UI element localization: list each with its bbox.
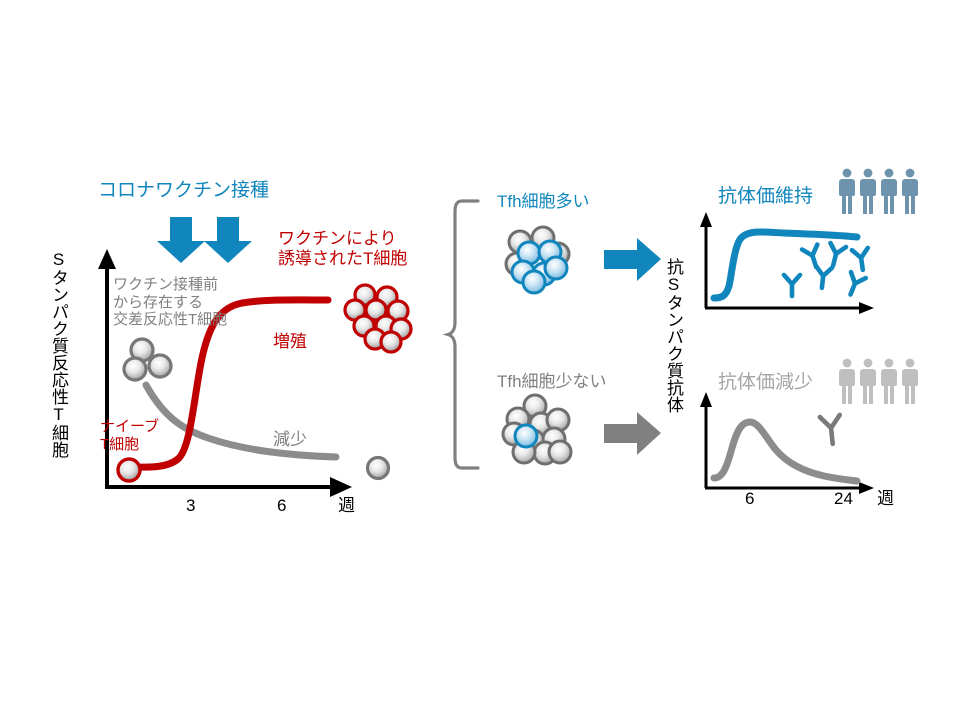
person-icon: [881, 169, 897, 214]
cell-glyph-gray: [503, 395, 571, 464]
naive-tcell-glyph: [112, 453, 146, 487]
naive-tcell-label-line2: T細胞: [100, 436, 159, 454]
person-icon: [839, 169, 855, 214]
declined-chart-xtick-24: 24: [834, 489, 853, 509]
induced-tcell-cluster: [343, 284, 415, 356]
antibody-icon: [820, 415, 843, 445]
maintained-chart-y-axis: [700, 212, 712, 308]
person-icon: [902, 169, 918, 214]
declined-antibody-group: [813, 412, 849, 454]
induced-tcell-label: ワクチンにより 誘導されたT細胞: [278, 229, 407, 269]
preexisting-tcell-label-line2: から存在する: [113, 294, 227, 312]
declined-chart-xtick-6: 6: [745, 489, 754, 509]
naive-tcell-label: ナイーブ T細胞: [100, 418, 159, 453]
cell-glyph-blue: [512, 241, 567, 293]
tfh-low-cell-cluster: [500, 394, 576, 466]
antibody-icon: [843, 272, 866, 297]
antibody-icon: [814, 266, 832, 289]
tfh-high-label: Tfh細胞多い: [497, 192, 590, 212]
preexisting-tcell-label-line1: ワクチン接種前: [113, 276, 227, 294]
maintained-people-group: [838, 168, 922, 216]
left-chart-xtick-3: 3: [186, 496, 195, 516]
person-icon: [902, 359, 918, 404]
antibody-icon: [825, 243, 846, 267]
right-arrow-icon: [604, 412, 661, 455]
tfh-low-arrow: [604, 412, 662, 456]
cell-glyph: [345, 285, 411, 352]
naive-tcell-label-line1: ナイーブ: [100, 418, 159, 436]
person-icon: [860, 169, 876, 214]
left-y-axis-label: Sタンパク質反応性T細胞: [48, 250, 68, 458]
right-y-axis-label: 抗Sタンパク質抗体: [663, 258, 683, 413]
maintained-antibody-group: [780, 242, 890, 308]
cell-glyph-blue: [515, 425, 537, 447]
preexisting-tcell-label: ワクチン接種前 から存在する 交差反応性T細胞: [113, 276, 227, 329]
antibody-icon: [852, 248, 871, 271]
decline-label: 減少: [273, 430, 307, 450]
antibody-declined-chart: [694, 390, 884, 500]
cell-glyph: [124, 339, 171, 380]
declined-tcell-glyph: [362, 452, 394, 484]
tfh-high-cell-cluster: [500, 228, 576, 300]
grouping-bracket: [446, 198, 480, 473]
right-arrow-icon: [604, 238, 661, 281]
declined-chart-x-axis-label: 週: [877, 489, 894, 509]
figure-canvas: Sタンパク質反応性T細胞 コロナワクチン接種 3 6 週 ワクチン接種前 から存…: [0, 0, 960, 720]
left-chart-xtick-6: 6: [277, 496, 286, 516]
vaccination-title: コロナワクチン接種: [98, 180, 269, 202]
antibody-maintained-title: 抗体価維持: [718, 186, 813, 208]
induced-tcell-label-line2: 誘導されたT細胞: [278, 249, 407, 269]
tfh-high-arrow: [604, 238, 662, 282]
declined-chart-y-axis: [700, 392, 712, 488]
antibody-icon: [784, 275, 800, 296]
preexisting-tcell-label-line3: 交差反応性T細胞: [113, 311, 227, 329]
expansion-label: 増殖: [273, 332, 307, 352]
preexisting-cell-cluster: [122, 336, 182, 386]
tfh-low-label: Tfh細胞少ない: [497, 372, 607, 392]
antibody-icon: [802, 245, 824, 270]
induced-tcell-label-line1: ワクチンにより: [278, 229, 407, 249]
left-chart-series-decline: [146, 385, 336, 457]
left-chart-x-axis-label: 週: [338, 496, 355, 516]
